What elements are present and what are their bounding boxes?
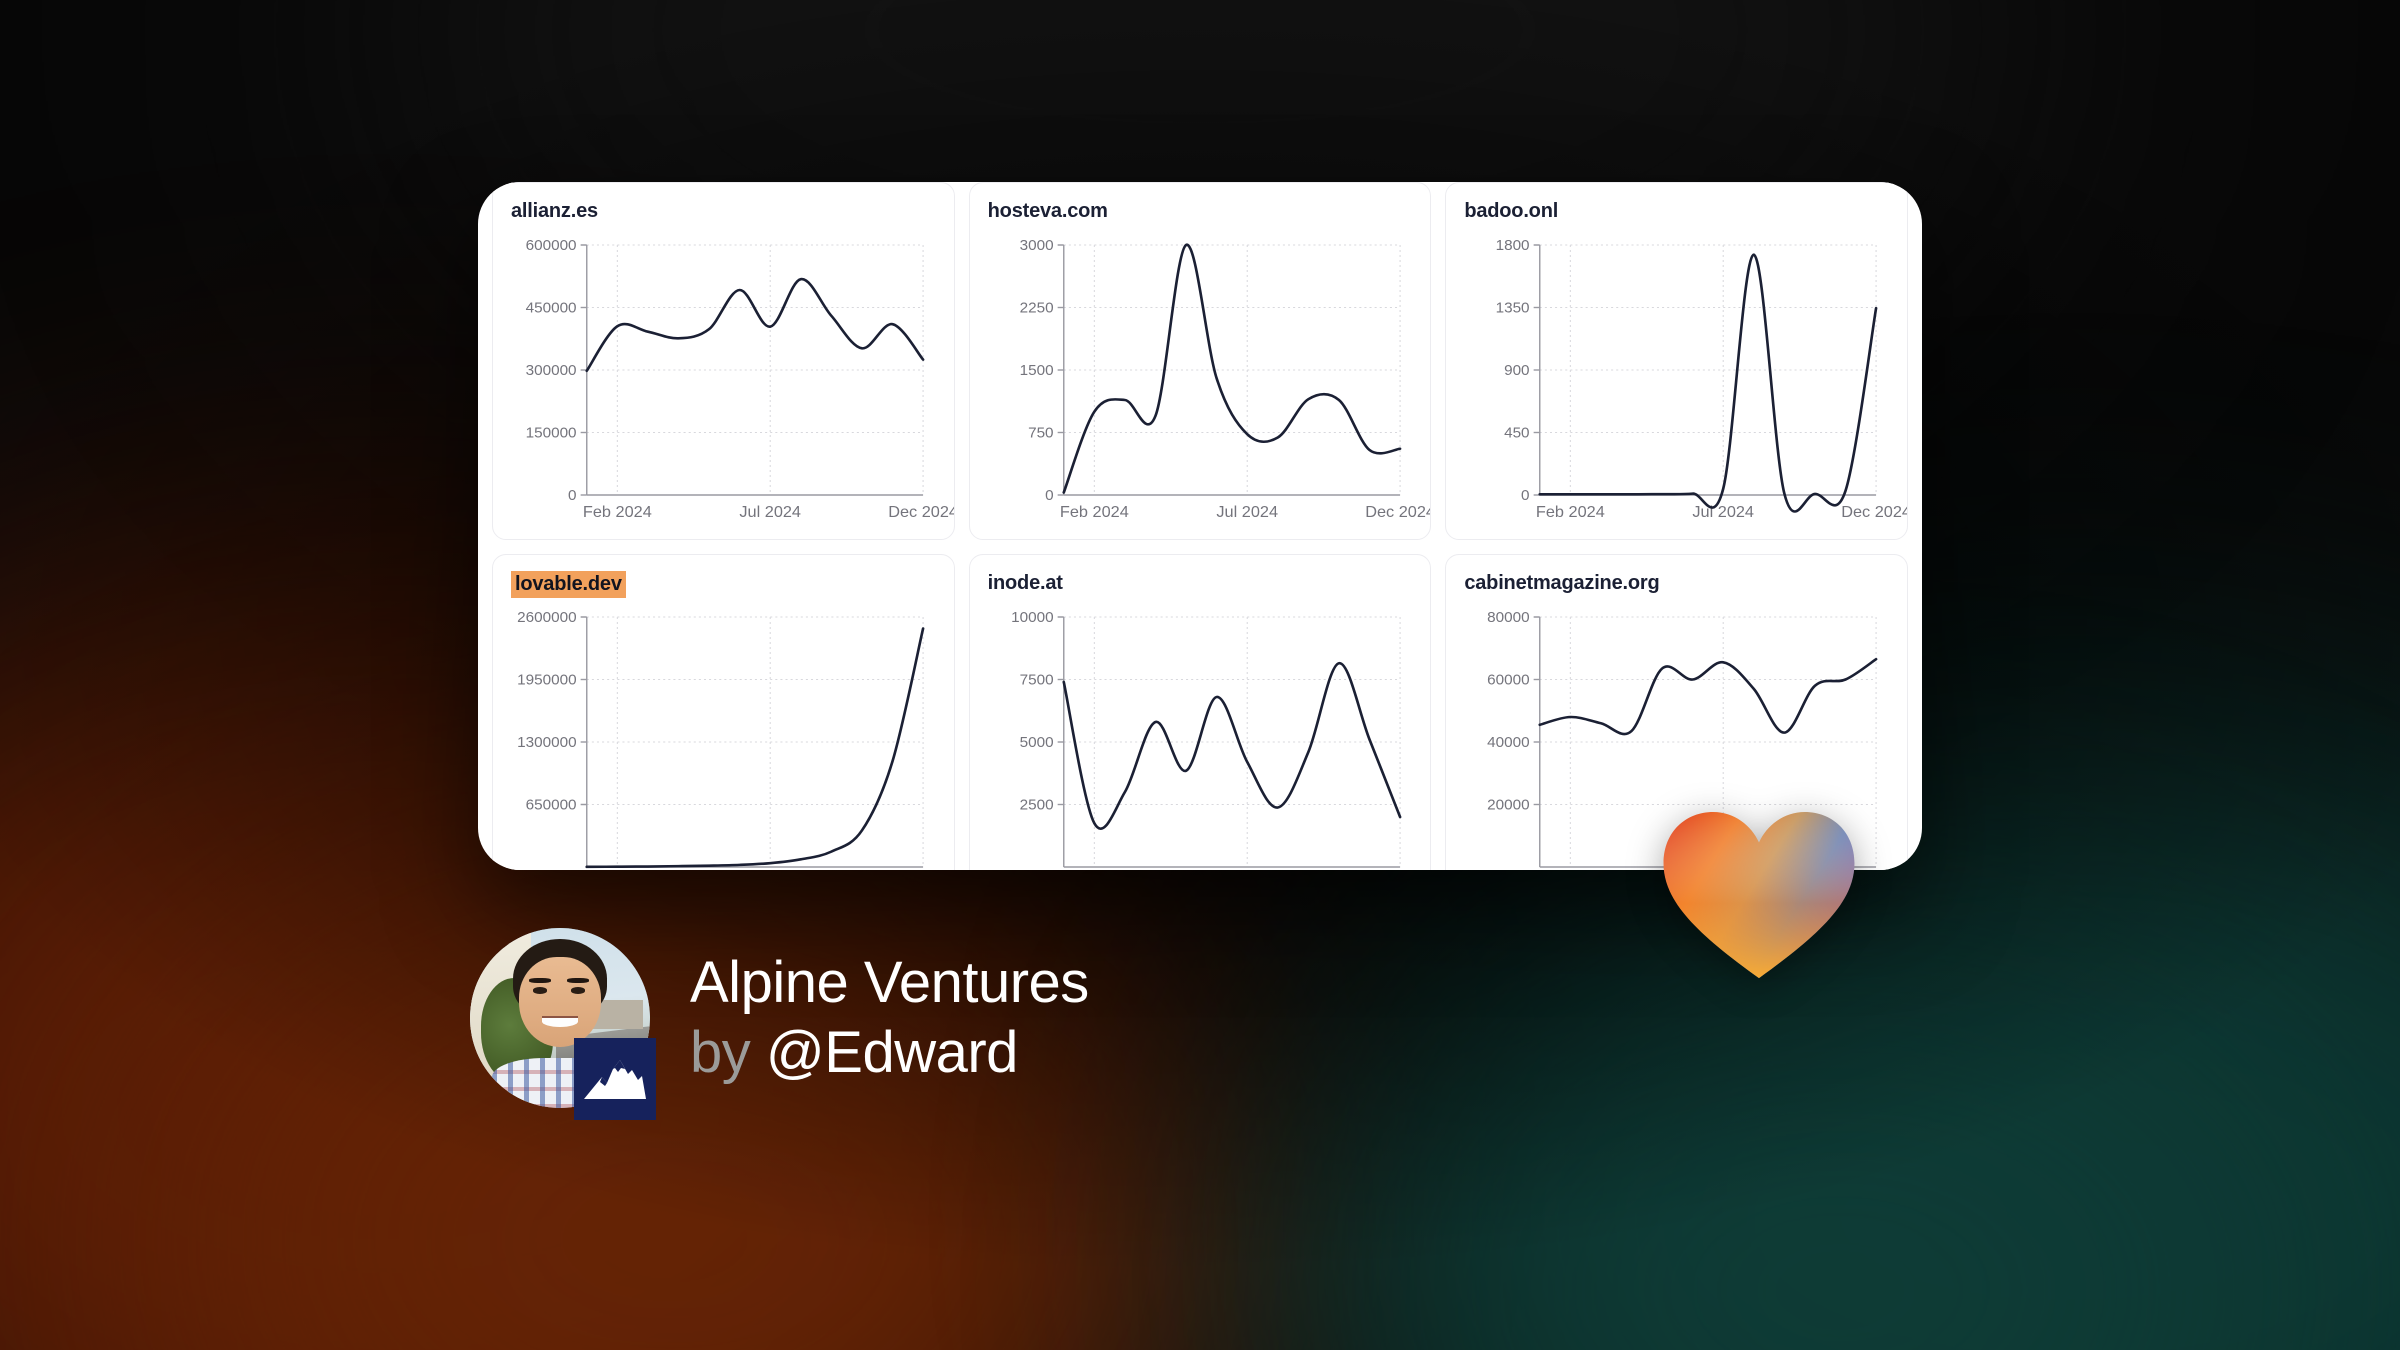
svg-text:20000: 20000 — [1487, 797, 1529, 814]
svg-text:40000: 40000 — [1487, 734, 1529, 751]
chart-plot: 0150000300000450000600000Feb 2024Jul 202… — [493, 235, 954, 535]
chart-title: lovable.dev — [511, 571, 626, 598]
svg-text:Feb 2024: Feb 2024 — [583, 503, 652, 521]
avatar-photo-brow-left — [529, 978, 551, 983]
page-title: Alpine Ventures — [690, 949, 1089, 1017]
chart-card[interactable]: allianz.es0150000300000450000600000Feb 2… — [492, 182, 955, 540]
chart-title: badoo.onl — [1464, 199, 1558, 224]
svg-text:900: 900 — [1504, 362, 1529, 379]
svg-text:Dec 2024: Dec 2024 — [888, 503, 953, 521]
avatar-photo-eye-left — [533, 987, 547, 993]
svg-text:5000: 5000 — [1019, 734, 1053, 751]
svg-text:Feb 2024: Feb 2024 — [1060, 503, 1129, 521]
chart-title: hosteva.com — [988, 199, 1108, 224]
svg-text:1800: 1800 — [1496, 237, 1530, 254]
svg-text:80000: 80000 — [1487, 609, 1529, 626]
chart-title: allianz.es — [511, 199, 598, 224]
svg-text:650000: 650000 — [526, 797, 577, 814]
svg-text:600000: 600000 — [526, 237, 577, 254]
svg-text:300000: 300000 — [526, 362, 577, 379]
avatar[interactable] — [470, 928, 650, 1108]
svg-text:10000: 10000 — [1011, 609, 1053, 626]
brand-by-label: by — [690, 1020, 750, 1085]
chart-plot: 650000130000019500002600000Feb 2024Jul 2… — [493, 607, 954, 870]
svg-text:1300000: 1300000 — [517, 734, 576, 751]
brand-text: Alpine Ventures by @Edward — [690, 949, 1089, 1088]
avatar-photo-eye-right — [571, 987, 585, 993]
svg-text:Feb 2024: Feb 2024 — [1536, 503, 1605, 521]
chart-plot: 25005000750010000Feb 2024Jul 2024Dec 202… — [970, 607, 1431, 870]
brand-byline: by @Edward — [690, 1019, 1089, 1087]
svg-text:0: 0 — [1045, 487, 1054, 504]
chart-title: cabinetmagazine.org — [1464, 571, 1659, 596]
avatar-photo-face — [519, 957, 602, 1047]
svg-text:2600000: 2600000 — [517, 609, 576, 626]
svg-text:Jul 2024: Jul 2024 — [1216, 503, 1278, 521]
svg-text:Dec 2024: Dec 2024 — [1842, 503, 1907, 521]
svg-text:3000: 3000 — [1019, 237, 1053, 254]
chart-card[interactable]: inode.at25005000750010000Feb 2024Jul 202… — [969, 554, 1432, 870]
avatar-photo-smile — [542, 1016, 578, 1027]
svg-text:2250: 2250 — [1019, 300, 1053, 317]
chart-plot: 045090013501800Feb 2024Jul 2024Dec 2024 — [1446, 235, 1907, 535]
chart-card[interactable]: lovable.dev650000130000019500002600000Fe… — [492, 554, 955, 870]
brand-handle: @Edward — [766, 1020, 1018, 1085]
svg-text:1500: 1500 — [1019, 362, 1053, 379]
svg-text:450000: 450000 — [526, 300, 577, 317]
svg-text:2500: 2500 — [1019, 797, 1053, 814]
lovable-heart-icon — [1663, 812, 1855, 980]
brand-footer: Alpine Ventures by @Edward — [470, 928, 1089, 1108]
svg-text:0: 0 — [1521, 487, 1530, 504]
svg-text:Jul 2024: Jul 2024 — [739, 503, 801, 521]
charts-panel: allianz.es0150000300000450000600000Feb 2… — [478, 182, 1922, 870]
chart-plot: 0750150022503000Feb 2024Jul 2024Dec 2024 — [970, 235, 1431, 535]
avatar-photo-brow-right — [567, 978, 589, 983]
svg-text:1350: 1350 — [1496, 300, 1530, 317]
svg-text:450: 450 — [1504, 425, 1529, 442]
svg-text:0: 0 — [568, 487, 577, 504]
chart-card[interactable]: badoo.onl045090013501800Feb 2024Jul 2024… — [1445, 182, 1908, 540]
chart-title: inode.at — [988, 571, 1063, 596]
svg-text:7500: 7500 — [1019, 672, 1053, 689]
svg-text:1950000: 1950000 — [517, 672, 576, 689]
svg-text:Jul 2024: Jul 2024 — [1693, 503, 1755, 521]
svg-text:Dec 2024: Dec 2024 — [1365, 503, 1430, 521]
svg-text:60000: 60000 — [1487, 672, 1529, 689]
svg-text:150000: 150000 — [526, 425, 577, 442]
charts-grid: allianz.es0150000300000450000600000Feb 2… — [478, 182, 1922, 870]
mountain-logo-icon — [574, 1038, 656, 1120]
chart-card[interactable]: hosteva.com0750150022503000Feb 2024Jul 2… — [969, 182, 1432, 540]
svg-text:750: 750 — [1028, 425, 1053, 442]
